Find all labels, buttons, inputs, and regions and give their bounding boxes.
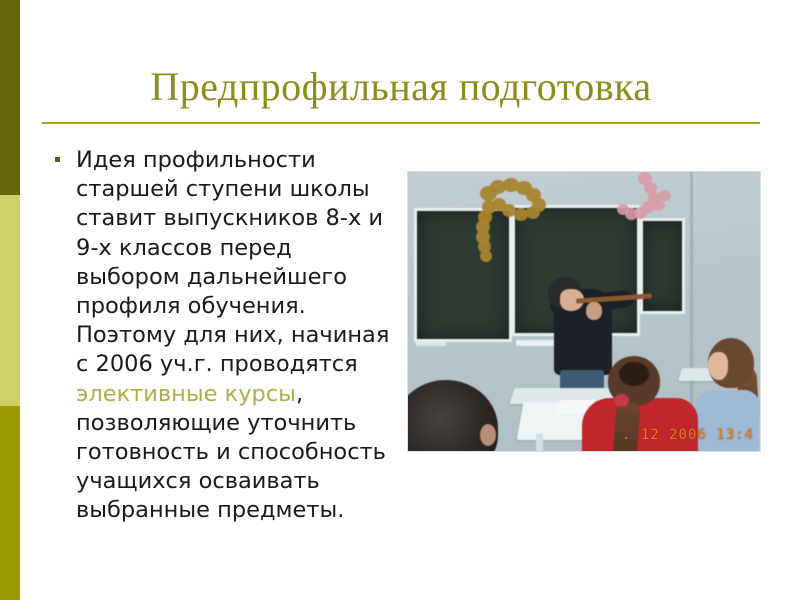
- bullet-text-before-highlight: Идея профильности старшей ступени школы …: [76, 147, 389, 377]
- sidebar-band-top: [0, 0, 20, 195]
- chalk-tray-left: [416, 342, 446, 346]
- photo-scene: [408, 172, 760, 451]
- sidebar-band-middle: [0, 195, 20, 406]
- desk-leg: [536, 434, 543, 451]
- student-at-board-hand: [586, 302, 602, 320]
- blackboard-left: [414, 208, 512, 342]
- list-item: Идея профильности старшей ступени школы …: [52, 146, 392, 526]
- photo-date-stamp: . 12 2006 13:4: [622, 427, 754, 443]
- blackboard-right: [640, 218, 685, 314]
- square-bullet-icon: [55, 157, 60, 162]
- bullet-paragraph: Идея профильности старшей ступени школы …: [76, 147, 389, 523]
- classroom-photo: . 12 2006 13:4: [408, 172, 760, 451]
- student-red-hair: [619, 362, 649, 386]
- photo-content: [408, 172, 760, 451]
- highlighted-term: элективные курсы: [76, 381, 296, 407]
- student-red-body: [582, 398, 698, 451]
- content-body: Идея профильности старшей ступени школы …: [52, 146, 392, 526]
- page-title: Предпрофильная подготовка: [42, 64, 760, 110]
- title-divider: [42, 122, 760, 124]
- sidebar-band-bottom: [0, 406, 20, 600]
- student-red-scrunchie: [614, 394, 629, 407]
- foreground-student-ear: [480, 424, 496, 446]
- student-blue-face: [708, 352, 728, 380]
